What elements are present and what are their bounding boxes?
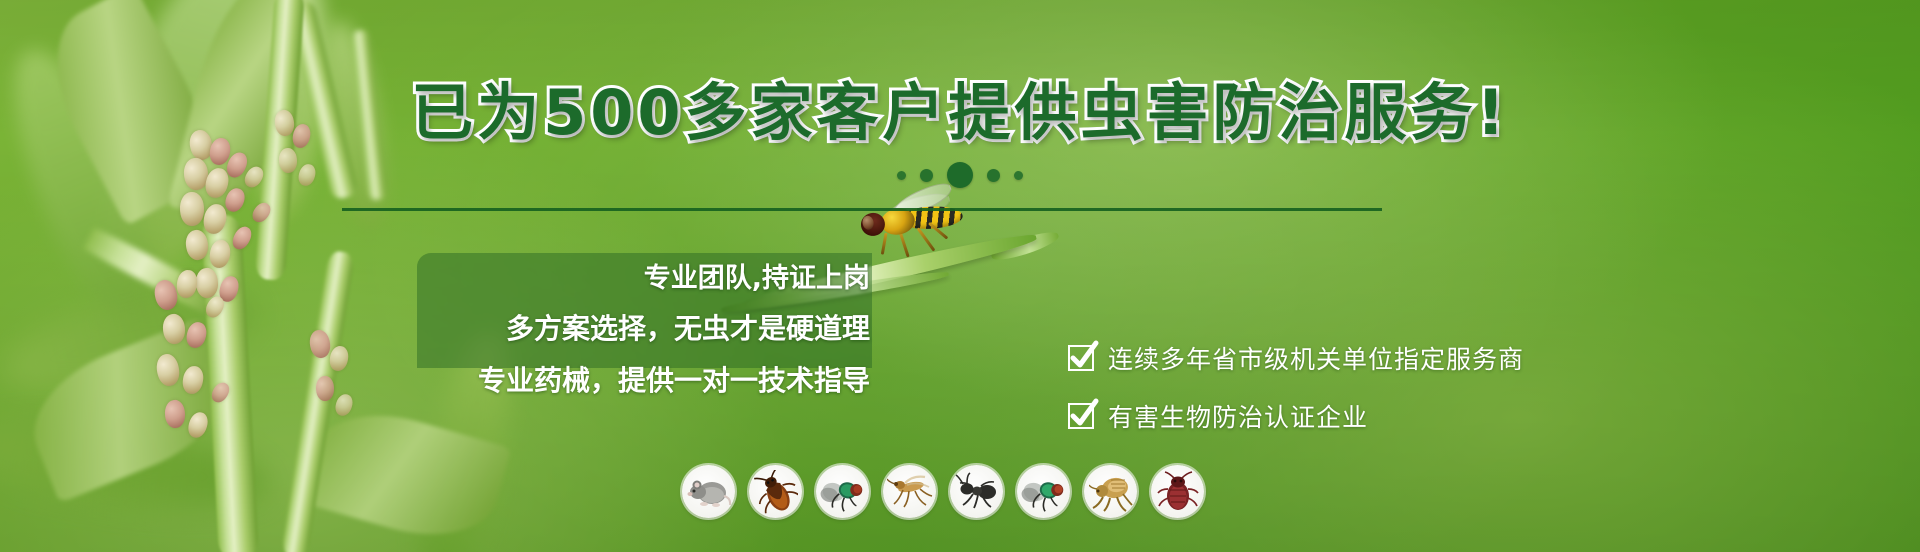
credential-checklist: 连续多年省市级机关单位指定服务商 有害生物防治认证企业 [1068,340,1524,434]
ant-icon[interactable] [950,465,1003,518]
divider-rule [342,208,1382,211]
decorative-dots [897,162,1023,188]
info-line-2: 多方案选择，无虫才是硬道理 [506,307,870,347]
rodent-icon[interactable] [682,465,735,518]
decorative-dot [947,162,973,188]
pest-icon-row [682,465,1204,518]
flea-icon[interactable] [1084,465,1137,518]
info-line-3: 专业药械，提供一对一技术指导 [478,359,870,399]
decorative-dot [920,169,933,182]
decorative-dot [897,171,906,180]
checklist-item: 有害生物防治认证企业 [1068,398,1524,434]
checklist-item: 连续多年省市级机关单位指定服务商 [1068,340,1524,376]
decorative-dot [1014,171,1023,180]
decorative-dot [987,169,1000,182]
blowfly-icon[interactable] [1017,465,1070,518]
bedbug-icon[interactable] [1151,465,1204,518]
info-line-1: 专业团队,持证上岗 [644,256,870,295]
banner-headline: 已为500多家客户提供虫害防治服务! [0,78,1920,148]
checklist-item-label: 连续多年省市级机关单位指定服务商 [1108,340,1524,376]
checklist-item-label: 有害生物防治认证企业 [1108,398,1368,434]
pest-control-banner: 已为500多家客户提供虫害防治服务! 专业团队,持证上岗 多方案选择，无虫才是硬… [0,0,1920,552]
cockroach-icon[interactable] [749,465,802,518]
housefly-icon[interactable] [816,465,869,518]
checkbox-checked-icon [1068,345,1094,371]
mosquito-icon[interactable] [883,465,936,518]
info-panel-text: 专业团队,持证上岗 多方案选择，无虫才是硬道理 专业药械，提供一对一技术指导 [340,256,880,399]
banner-headline-text: 已为500多家客户提供虫害防治服务! [411,76,1509,149]
plant-flower-cluster [155,270,275,470]
checkbox-checked-icon [1068,403,1094,429]
